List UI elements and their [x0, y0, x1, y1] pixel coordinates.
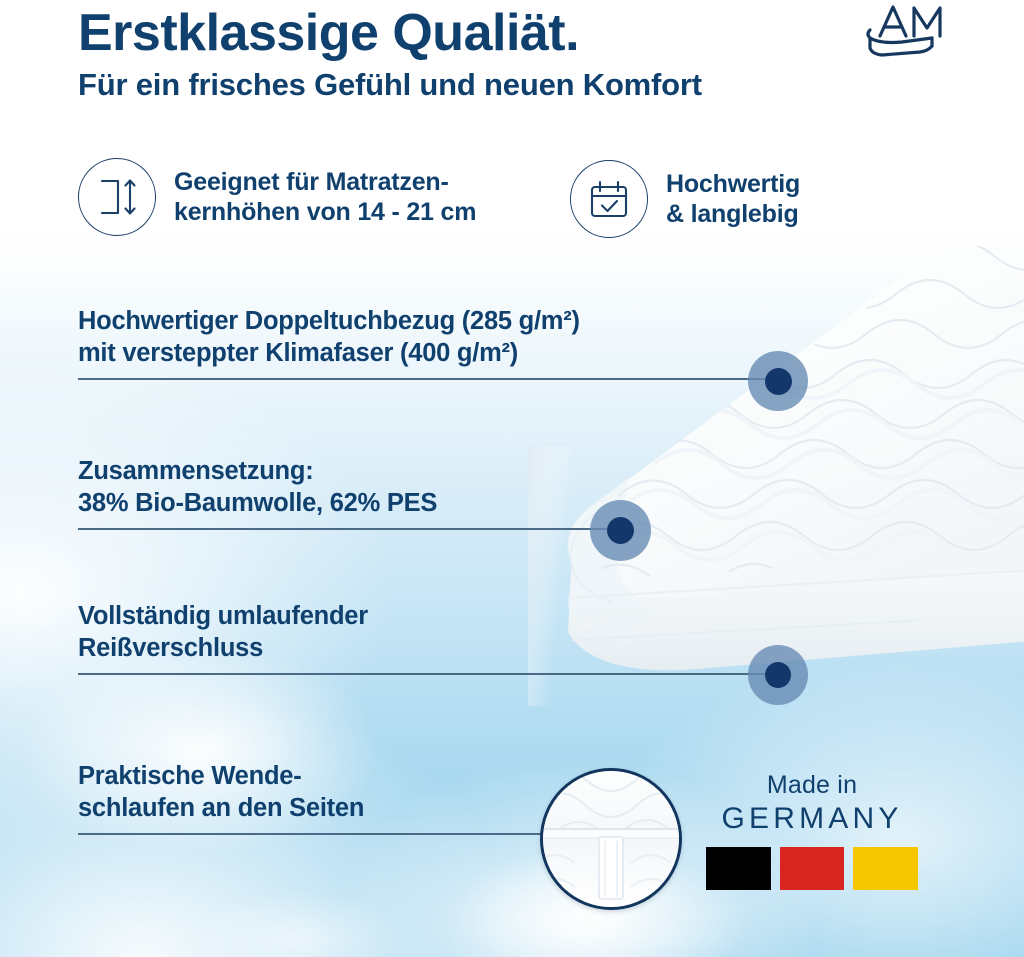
badge-durability: Hochwertig & langlebig	[570, 160, 800, 238]
callout-composition: Zusammensetzung: 38% Bio-Baumwolle, 62% …	[78, 455, 618, 530]
am-brand-logo[interactable]	[862, 2, 972, 64]
marker-dot-cover-fabric	[748, 351, 808, 411]
callout-label: Praktische Wende- schlaufen an den Seite…	[78, 760, 570, 824]
marker-dot-core	[607, 517, 634, 544]
page-title: Erstklassige Qualiät.	[78, 6, 878, 61]
page-subtitle: Für ein frisches Gefühl und neuen Komfor…	[78, 67, 878, 104]
flag-stripe-black	[706, 847, 771, 890]
german-flag	[706, 847, 918, 890]
marker-dot-zipper	[748, 645, 808, 705]
callout-label: Zusammensetzung: 38% Bio-Baumwolle, 62% …	[78, 455, 618, 519]
callout-connector-line	[78, 833, 570, 835]
flag-stripe-gold	[853, 847, 918, 890]
cloud-wisp-lower	[150, 870, 450, 957]
germany-label: GERMANY	[706, 802, 918, 837]
callout-zipper: Vollständig umlaufender Reißverschluss	[78, 600, 776, 675]
callout-turning-loops: Praktische Wende- schlaufen an den Seite…	[78, 760, 570, 835]
infographic-canvas: Erstklassige Qualiät. Für ein frisches G…	[0, 0, 1024, 957]
marker-dot-core	[765, 662, 791, 688]
callout-label: Hochwertiger Doppeltuchbezug (285 g/m²) …	[78, 305, 778, 369]
made-in-label: Made in	[706, 772, 918, 800]
feature-badges: Geeignet für Matratzen- kernhöhen von 14…	[78, 158, 958, 258]
calendar-check-icon	[570, 160, 648, 238]
badge-label: Hochwertig & langlebig	[666, 169, 800, 230]
header-block: Erstklassige Qualiät. Für ein frisches G…	[78, 6, 878, 104]
made-in-germany-badge: Made in GERMANY	[706, 772, 918, 890]
callout-connector-line	[78, 528, 618, 530]
badge-mattress-height: Geeignet für Matratzen- kernhöhen von 14…	[78, 158, 476, 236]
marker-dot-core	[765, 368, 792, 395]
mattress-height-arrow-icon	[78, 158, 156, 236]
callout-connector-line	[78, 378, 778, 380]
badge-label: Geeignet für Matratzen- kernhöhen von 14…	[174, 167, 476, 228]
callout-cover-fabric: Hochwertiger Doppeltuchbezug (285 g/m²) …	[78, 305, 778, 380]
flag-stripe-red	[780, 847, 845, 890]
callout-label: Vollständig umlaufender Reißverschluss	[78, 600, 776, 664]
marker-dot-composition	[590, 500, 651, 561]
callout-connector-line	[78, 673, 776, 675]
turning-loop-detail-inset	[540, 768, 682, 910]
